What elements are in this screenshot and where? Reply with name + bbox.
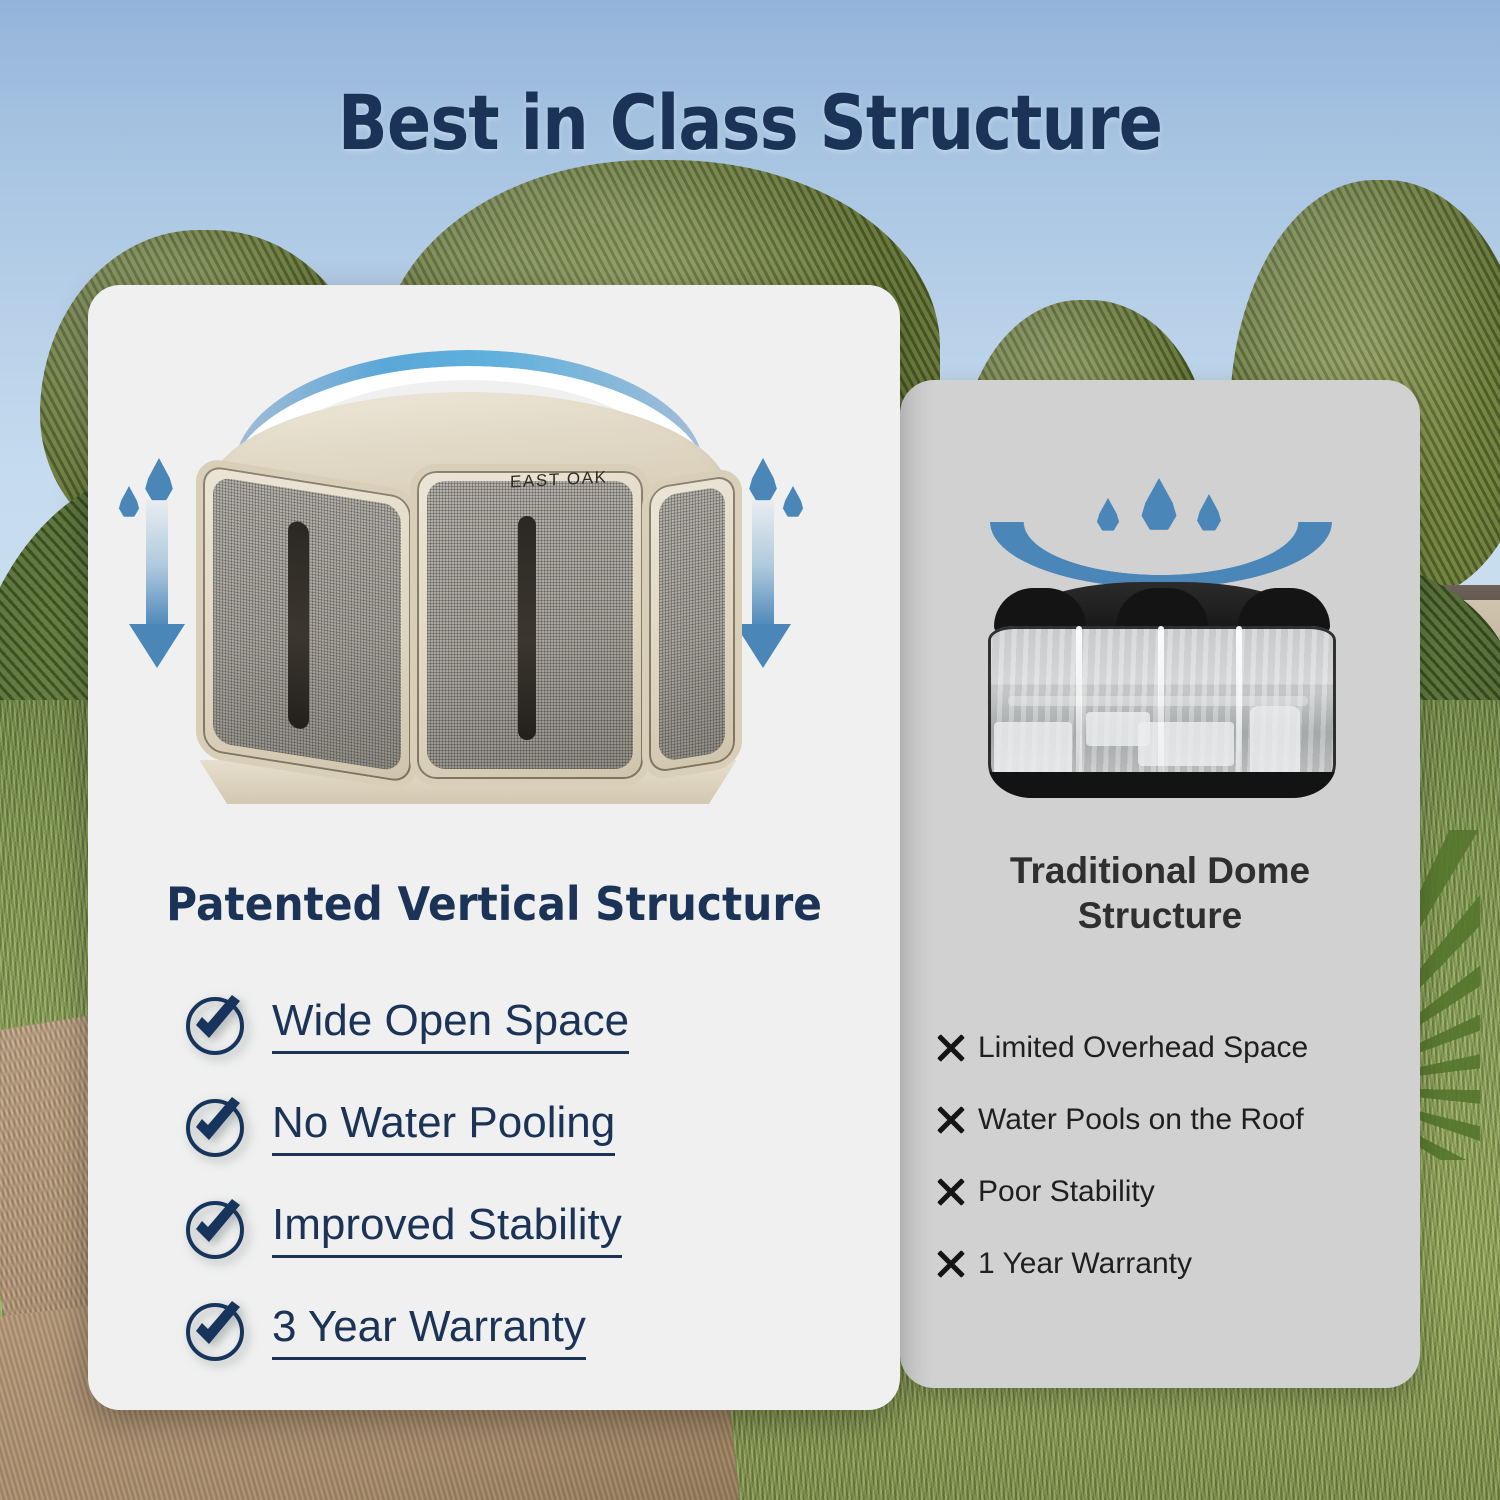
x-icon	[936, 1177, 966, 1207]
arrow-shaft	[146, 500, 168, 628]
x-icon	[936, 1033, 966, 1063]
list-item: Limited Overhead Space	[936, 1012, 1396, 1084]
list-item: Improved Stability	[184, 1179, 844, 1281]
mesh-screen	[659, 486, 725, 762]
feature-list: Wide Open Space No Water Pooling Improve…	[184, 975, 844, 1383]
list-item: Wide Open Space	[184, 975, 844, 1077]
interior-furniture	[1250, 706, 1300, 778]
tent-panel	[642, 466, 742, 782]
traditional-heading: Traditional Dome Structure	[918, 848, 1402, 938]
drawback-label: Poor Stability	[978, 1175, 1155, 1209]
feature-label: Wide Open Space	[272, 998, 629, 1053]
mesh-screen	[427, 481, 633, 769]
door-zipper	[288, 520, 309, 731]
water-drop-icon	[782, 486, 804, 518]
x-icon	[936, 1105, 966, 1135]
tent-walls	[196, 464, 744, 784]
dome-base	[988, 772, 1336, 798]
tent-illustration: EAST OAK	[88, 340, 900, 840]
comparison-card-traditional: Traditional Dome Structure Limited Overh…	[900, 380, 1420, 1388]
water-drop-icon	[1140, 478, 1178, 532]
feature-label: 3 Year Warranty	[272, 1304, 586, 1359]
eastoak-tent-image: EAST OAK	[180, 392, 760, 822]
water-droplets-group	[1088, 476, 1238, 538]
list-item: Poor Stability	[936, 1156, 1396, 1228]
drawback-list: Limited Overhead Space Water Pools on th…	[936, 1012, 1396, 1300]
check-circle-icon	[184, 1301, 246, 1363]
mesh-screen	[213, 476, 401, 772]
page-title: Best in Class Structure	[105, 78, 1395, 167]
water-drop-icon	[1196, 494, 1222, 532]
dome-transparent-wall	[988, 626, 1336, 798]
traditional-heading-line2: Structure	[1078, 895, 1242, 936]
drawback-label: 1 Year Warranty	[978, 1247, 1192, 1281]
dome-tent-image	[988, 582, 1336, 812]
check-circle-icon	[184, 995, 246, 1057]
comparison-card-eastoak: EAST OAK Patented Vertical Structure Wid…	[88, 285, 900, 1410]
list-item: No Water Pooling	[184, 1077, 844, 1179]
list-item: 3 Year Warranty	[184, 1281, 844, 1383]
interior-furniture	[1138, 722, 1234, 766]
tent-panel	[196, 456, 418, 791]
tent-panel	[410, 464, 650, 786]
traditional-heading-line1: Traditional Dome	[1010, 850, 1310, 891]
drawback-label: Water Pools on the Roof	[978, 1103, 1304, 1137]
list-item: Water Pools on the Roof	[936, 1084, 1396, 1156]
dome-illustration	[900, 430, 1420, 830]
list-item: 1 Year Warranty	[936, 1228, 1396, 1300]
water-drop-icon	[1096, 498, 1120, 532]
eastoak-heading: Patented Vertical Structure	[120, 877, 867, 931]
drawback-label: Limited Overhead Space	[978, 1031, 1308, 1065]
check-circle-icon	[184, 1097, 246, 1159]
feature-label: Improved Stability	[272, 1202, 622, 1257]
check-circle-icon	[184, 1199, 246, 1261]
arrow-down-icon	[129, 624, 185, 668]
feature-label: No Water Pooling	[272, 1100, 615, 1155]
x-icon	[936, 1249, 966, 1279]
door-zipper	[518, 516, 537, 741]
water-drop-icon	[118, 486, 140, 518]
water-drop-icon	[144, 458, 174, 502]
